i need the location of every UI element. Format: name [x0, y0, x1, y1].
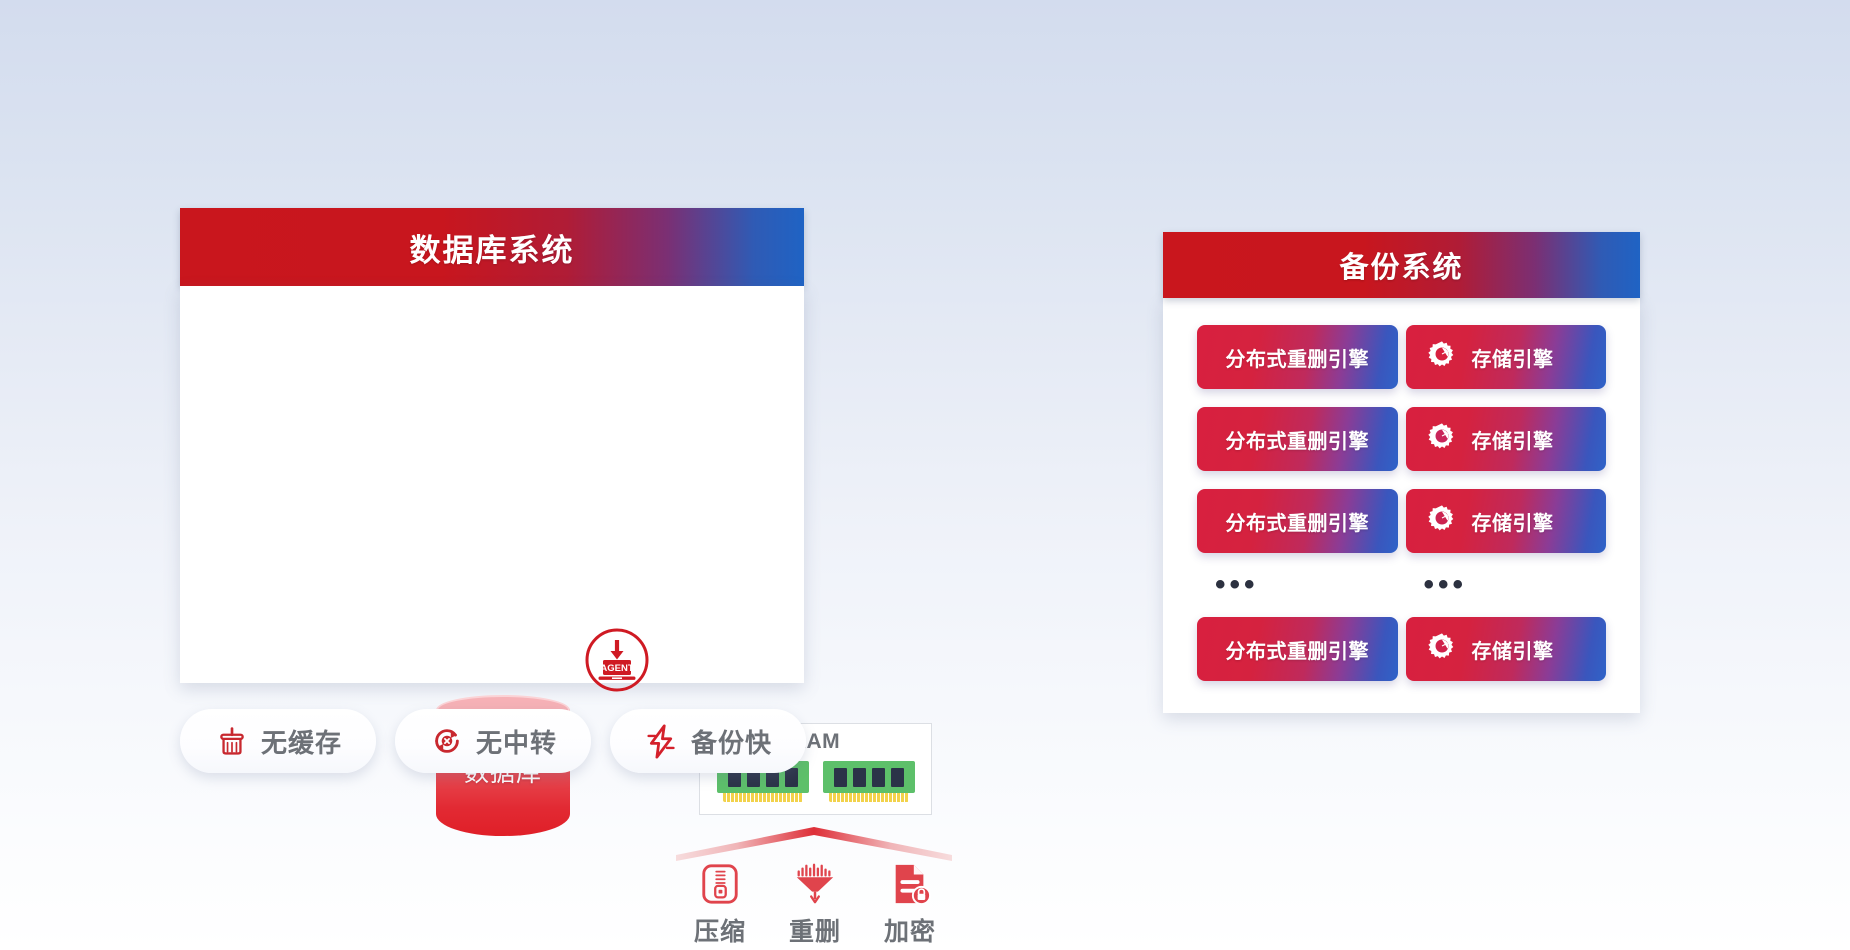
dedup-engine-label: 分布式重删引擎 [1226, 343, 1370, 372]
engine-cell: 分布式重删引擎 [1197, 608, 1398, 690]
ellipsis-right: ••• [1424, 570, 1468, 600]
ellipsis-cell: ••• [1406, 562, 1607, 608]
broom-icon [214, 723, 250, 759]
storage-engine-label: 存储引擎 [1472, 635, 1554, 664]
storage-engine-button[interactable]: 存储引擎 [1406, 617, 1607, 681]
svg-text:AGENT: AGENT [600, 663, 633, 674]
feature-label: 重删 [775, 912, 855, 948]
no-relay-refresh-icon [429, 723, 465, 759]
ram-chip [872, 768, 885, 787]
pill-no-relay[interactable]: 无中转 [395, 709, 591, 773]
pill-label: 无缓存 [261, 723, 342, 760]
feature-item: 重删 [775, 858, 855, 948]
feature-label: 加密 [870, 912, 950, 948]
ellipsis-left: ••• [1215, 570, 1259, 600]
feature-label: 压缩 [680, 912, 760, 948]
ram-chip [853, 768, 866, 787]
dedup-engine-button[interactable]: 分布式重删引擎 [1197, 617, 1398, 681]
backup-system-header: 备份系统 [1163, 232, 1640, 298]
pill-label: 备份快 [691, 723, 772, 760]
database-system-header: 数据库系统 [180, 208, 804, 286]
compress-icon [680, 858, 760, 910]
dedup-engine-label: 分布式重删引擎 [1226, 425, 1370, 454]
engine-grid: 分布式重删引擎 存储引擎 [1163, 316, 1640, 690]
backup-system-body: 分布式重删引擎 存储引擎 [1163, 298, 1640, 713]
pill-fast-backup[interactable]: 备份快 [610, 709, 806, 773]
engine-cell: 分布式重删引擎 [1197, 480, 1398, 562]
lightning-bolt-icon [644, 723, 680, 759]
ram-pins [723, 793, 803, 802]
storage-engine-label: 存储引擎 [1472, 507, 1554, 536]
database-system-title: 数据库系统 [410, 225, 575, 270]
feature-icon-row: 压缩 重删 [680, 858, 950, 948]
ram-pins [829, 793, 909, 802]
engine-cell: 存储引擎 [1406, 398, 1607, 480]
engine-cell: 存储引擎 [1406, 480, 1607, 562]
engine-cell: 分布式重删引擎 [1197, 398, 1398, 480]
gear-icon [1428, 422, 1456, 456]
dedup-engine-button[interactable]: 分布式重删引擎 [1197, 407, 1398, 471]
database-system-body: AGENT 数据库 RAM [180, 286, 804, 683]
dedup-engine-label: 分布式重删引擎 [1226, 635, 1370, 664]
agent-download-laptop-icon: AGENT [584, 627, 650, 693]
pill-no-cache[interactable]: 无缓存 [180, 709, 376, 773]
up-arrow-icon [676, 827, 952, 861]
backup-system-panel: 备份系统 分布式重删引擎 [1163, 232, 1640, 713]
storage-engine-button[interactable]: 存储引擎 [1406, 489, 1607, 553]
dedup-engine-button[interactable]: 分布式重删引擎 [1197, 325, 1398, 389]
gear-icon [1428, 340, 1456, 374]
engine-cell: 分布式重删引擎 [1197, 316, 1398, 398]
storage-engine-label: 存储引擎 [1472, 343, 1554, 372]
storage-engine-label: 存储引擎 [1472, 425, 1554, 454]
backup-system-title: 备份系统 [1339, 244, 1463, 286]
dedup-engine-button[interactable]: 分布式重删引擎 [1197, 489, 1398, 553]
database-system-panel: 数据库系统 AGENT 数据库 RAM [180, 208, 804, 683]
dedup-engine-label: 分布式重删引擎 [1226, 507, 1370, 536]
storage-engine-button[interactable]: 存储引擎 [1406, 325, 1607, 389]
ellipsis-cell: ••• [1197, 562, 1398, 608]
engine-cell: 存储引擎 [1406, 316, 1607, 398]
document-lock-icon [870, 858, 950, 910]
ram-chip [891, 768, 904, 787]
funnel-dedup-icon [775, 858, 855, 910]
feature-pill-row: 无缓存 无中转 备份快 [180, 709, 840, 775]
engine-cell: 存储引擎 [1406, 608, 1607, 690]
feature-item: 加密 [870, 858, 950, 948]
gear-icon [1428, 632, 1456, 666]
feature-item: 压缩 [680, 858, 760, 948]
gear-icon [1428, 504, 1456, 538]
storage-engine-button[interactable]: 存储引擎 [1406, 407, 1607, 471]
pill-label: 无中转 [476, 723, 557, 760]
